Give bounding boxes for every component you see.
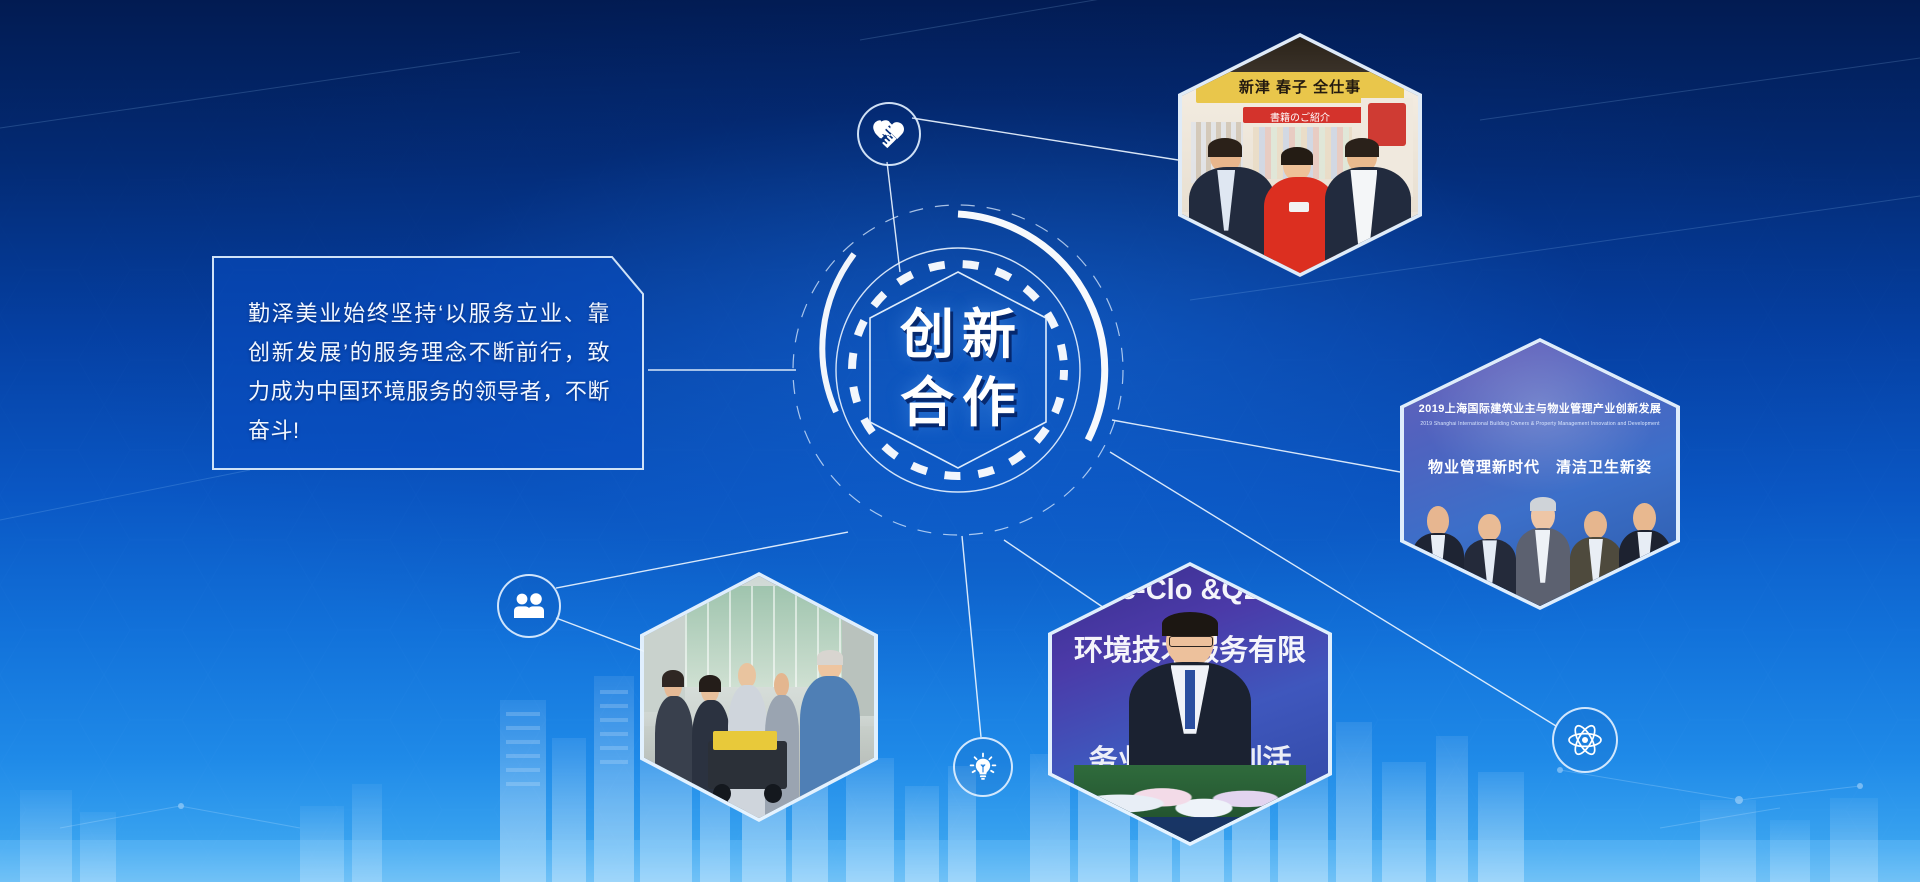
conference-banner-subtitle: 2019 Shanghai International Building Own… <box>1404 421 1676 427</box>
node-atom[interactable] <box>1552 707 1618 773</box>
two-people-icon <box>513 592 545 620</box>
handshake-heart-icon <box>872 119 906 149</box>
node-lightbulb[interactable] <box>953 737 1013 797</box>
company-philosophy-callout: 勤泽美业始终坚持‘以服务立业、靠创新发展’的服务理念不断前行，致力成为中国环境服… <box>212 256 644 470</box>
hub-title: 创新 合作 <box>788 200 1128 540</box>
lightbulb-icon <box>968 752 998 782</box>
central-hub: 创新 合作 <box>788 200 1128 540</box>
node-handshake[interactable] <box>857 102 921 166</box>
callout-text: 勤泽美业始终坚持‘以服务立业、靠创新发展’的服务理念不断前行，致力成为中国环境服… <box>212 256 644 450</box>
hub-title-line1: 创新 <box>892 304 1024 368</box>
photo-caption-top: 新津 春子 全仕事 <box>1182 76 1418 97</box>
hub-title-line2: 合作 <box>892 372 1024 436</box>
atom-icon <box>1567 722 1603 758</box>
node-people[interactable] <box>497 574 561 638</box>
conference-banner-headline: 物业管理新时代 清洁卫生新姿 <box>1404 456 1676 477</box>
conference-banner-title: 2019上海国际建筑业主与物业管理产业创新发展 <box>1404 400 1676 416</box>
poster-canvas: 勤泽美业始终坚持‘以服务立业、靠创新发展’的服务理念不断前行，致力成为中国环境服… <box>0 0 1920 882</box>
